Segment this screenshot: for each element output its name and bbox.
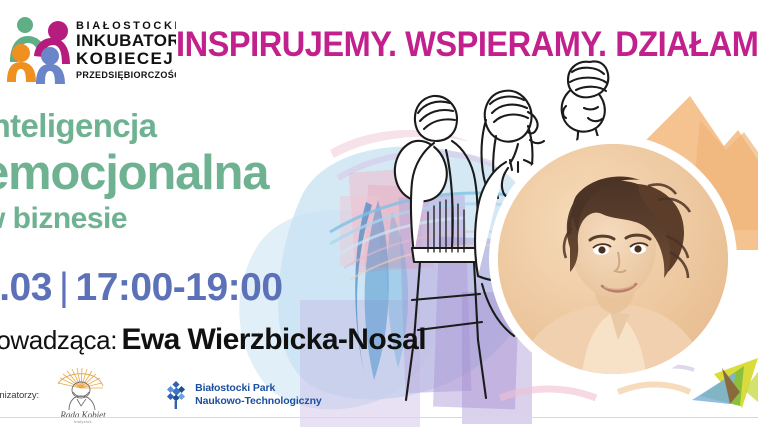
logo-line-2: INKUBATOR: [76, 31, 176, 50]
bpnt-text: Białostocki Park Naukowo-Technologiczny: [195, 382, 322, 408]
rada-kobiet-sub: białystok: [74, 420, 92, 424]
organizers-label: rganizatorzy:: [0, 390, 39, 401]
rada-kobiet-logo: Rada Kobiet białystok: [47, 366, 119, 424]
footer-divider: [0, 417, 758, 418]
event-date: 6.03: [0, 266, 52, 309]
title-line-2: emocjonalna: [0, 146, 402, 200]
rada-kobiet-script: Rada Kobiet: [59, 410, 106, 420]
bpnt-mark-icon: [163, 380, 189, 410]
title-line-1: inteligencja: [0, 108, 402, 144]
portrait-illustration: [498, 144, 728, 374]
datetime-separator: |: [52, 266, 76, 309]
event-poster: BIAŁOSTOCKI INKUBATOR KOBIECEJ PRZEDSIĘB…: [0, 0, 758, 427]
event-time: 17:00-19:00: [76, 266, 283, 309]
presenter-portrait-photo: [498, 144, 728, 374]
logo-line-3: KOBIECEJ: [76, 49, 174, 68]
bialostocki-inkubator-logo: BIAŁOSTOCKI INKUBATOR KOBIECEJ PRZEDSIĘB…: [4, 12, 176, 84]
logo-line-4: PRZEDSIĘBIORCZOŚCI: [76, 69, 176, 80]
presenter-portrait-frame: [489, 135, 737, 383]
bpnt-logo: Białostocki Park Naukowo-Technologiczny: [163, 380, 322, 410]
event-datetime: 6.03|17:00-19:00: [0, 266, 283, 310]
organizers-row: rganizatorzy: Rada Kobiet białystok: [0, 366, 322, 424]
slogan-text: INSPIRUJEMY. WSPIERAMY. DZIAŁAMY: [176, 22, 734, 68]
presenter-label: prowadząca:: [0, 325, 117, 355]
title-line-3: w biznesie: [0, 202, 402, 236]
presenter-line: prowadząca: Ewa Wierzbicka-Nosal: [0, 322, 426, 358]
presenter-name: Ewa Wierzbicka-Nosal: [121, 323, 426, 356]
bpnt-line-2: Naukowo-Technologiczny: [195, 395, 322, 408]
bpnt-line-1: Białostocki Park: [195, 382, 322, 395]
event-title: inteligencja emocjonalna w biznesie: [0, 108, 402, 236]
